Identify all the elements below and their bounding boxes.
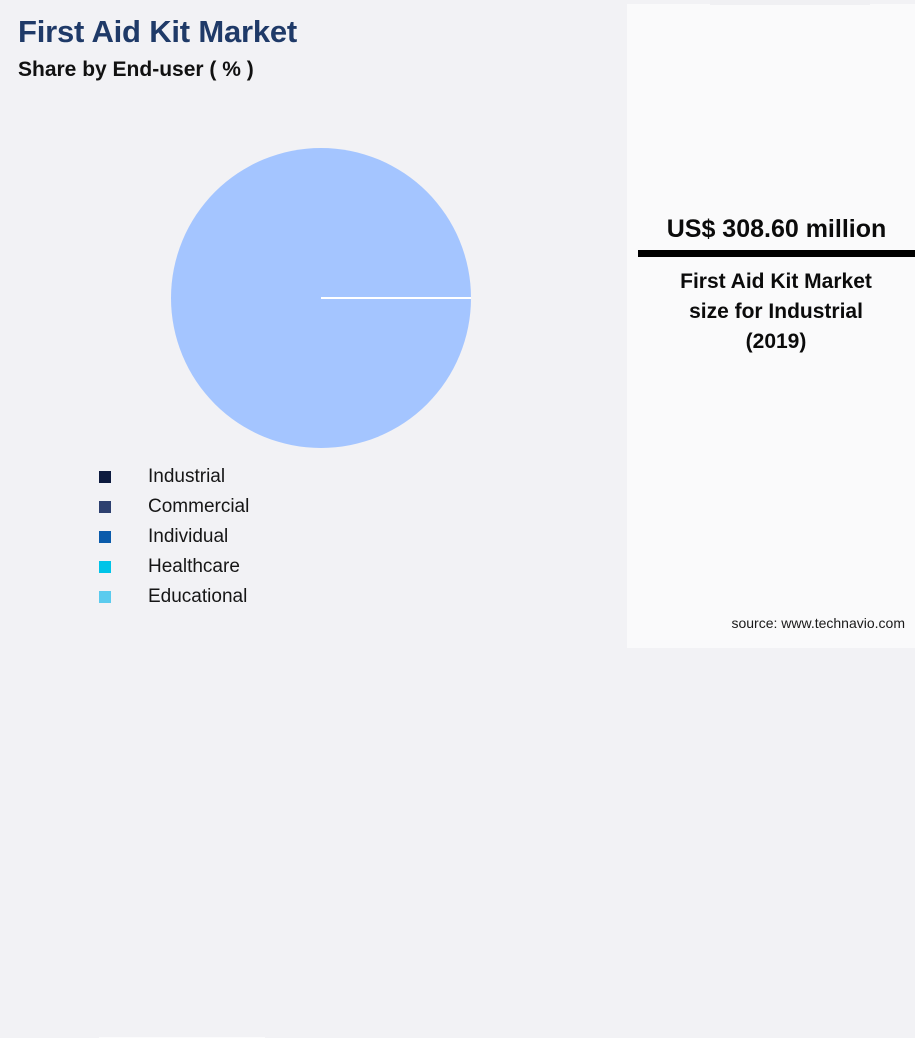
card-top-gap-secondary [710,0,870,5]
pie-chart-svg [171,148,471,448]
legend-item-label: Industrial [148,466,225,488]
legend-item-industrial[interactable]: Industrial [99,462,519,492]
chart-panel: First Aid Kit Market Share by End-user (… [0,0,627,648]
stat-description: First Aid Kit Market size for Industrial… [645,267,907,357]
source-note: source: www.technavio.com [615,615,905,631]
legend-item-commercial[interactable]: Commercial [99,492,519,522]
legend-swatch-icon [99,561,111,573]
legend-item-label: Commercial [148,496,249,518]
infographic-page: First Aid Kit Market Share by End-user (… [0,0,915,648]
legend-swatch-icon [99,471,111,483]
legend-swatch-icon [99,591,111,603]
chart-subtitle: Share by End-user ( % ) [18,58,254,82]
legend-swatch-icon [99,501,111,513]
legend-swatch-icon [99,531,111,543]
legend-item-educational[interactable]: Educational [99,582,519,612]
legend-item-label: Healthcare [148,556,240,578]
legend-item-label: Individual [148,526,228,548]
chart-legend: Industrial Commercial Individual Healthc… [99,462,519,612]
stat-value: US$ 308.60 million [638,215,915,244]
pie-chart [171,148,471,448]
legend-item-individual[interactable]: Individual [99,522,519,552]
stat-description-line: (2019) [645,327,907,357]
stat-divider [638,250,915,257]
stat-description-line: First Aid Kit Market [645,267,907,297]
page-title: First Aid Kit Market [18,14,297,50]
legend-item-healthcare[interactable]: Healthcare [99,552,519,582]
stat-description-line: size for Industrial [645,297,907,327]
legend-item-label: Educational [148,586,247,608]
